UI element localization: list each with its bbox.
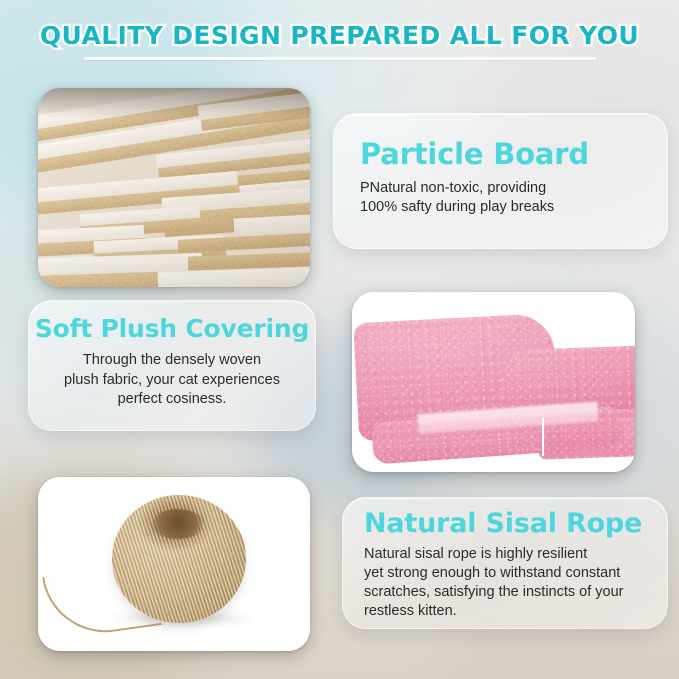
soft-plush-description-line-1: Through the densely woven: [83, 352, 261, 368]
sisal-rope-photo: [38, 477, 310, 651]
soft-plush-description-line-2: plush fabric, your cat experiences: [64, 372, 280, 388]
particle-board-title: Particle Board: [360, 138, 667, 170]
sisal-rope-text-card: Natural Sisal Rope Natural sisal rope is…: [342, 497, 668, 629]
soft-plush-text-card: Soft Plush Covering Through the densely …: [28, 300, 316, 431]
sisal-rope-title: Natural Sisal Rope: [364, 509, 667, 539]
page-title: QUALITY DESIGN PREPARED ALL FOR YOU: [30, 20, 649, 54]
soft-plush-description: Through the densely woven plush fabric, …: [43, 351, 301, 410]
soft-plush-photo: [352, 292, 635, 472]
particle-board-illustration: [38, 88, 310, 287]
sisal-rope-description: Natural sisal rope is highly resilient y…: [364, 545, 659, 621]
headline-block: QUALITY DESIGN PREPARED ALL FOR YOU: [0, 20, 679, 60]
infographic-canvas: QUALITY DESIGN PREPARED ALL FOR YOU: [0, 0, 679, 679]
sisal-ball-illustration: [38, 477, 310, 651]
particle-board-description-line-2: 100% safty during play breaks: [360, 199, 554, 215]
particle-board-text-card: Particle Board PNatural non-toxic, provi…: [333, 113, 668, 249]
particle-board-description: PNatural non-toxic, providing 100% safty…: [360, 179, 667, 217]
soft-plush-title: Soft Plush Covering: [29, 315, 315, 343]
plush-fabric-illustration: [352, 292, 635, 472]
sisal-rope-description-line-2: yet strong enough to withstand constant: [364, 565, 620, 581]
particle-board-photo: [38, 88, 310, 287]
sisal-rope-description-line-4: restless kitten.: [364, 603, 457, 619]
sisal-rope-description-line-3: scratches, satisfying the instincts of y…: [364, 584, 624, 600]
soft-plush-description-line-3: perfect cosiness.: [118, 391, 227, 407]
sisal-rope-description-line-1: Natural sisal rope is highly resilient: [364, 546, 587, 562]
particle-board-description-line-1: PNatural non-toxic, providing: [360, 180, 546, 196]
title-underline: [84, 57, 596, 60]
